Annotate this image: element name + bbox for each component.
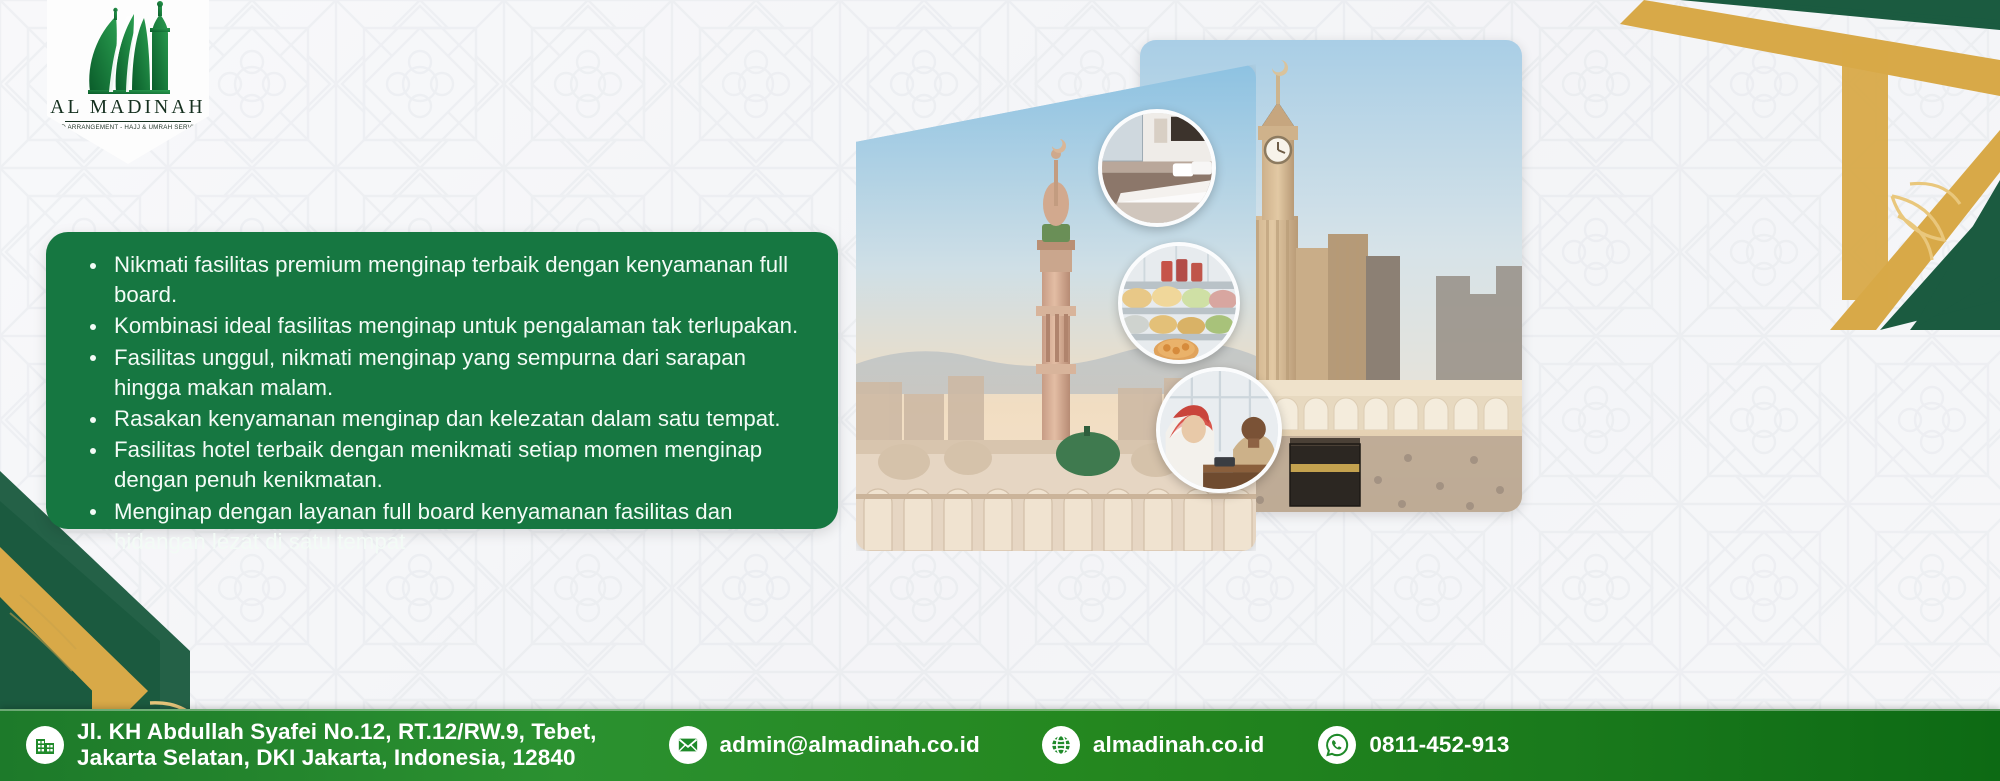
logo-tagline: LAND ARRANGEMENT - HAJJ & UMRAH SERVICES	[49, 124, 208, 131]
list-item: Fasilitas unggul, nikmati menginap yang …	[86, 343, 812, 403]
list-item: Kombinasi ideal fasilitas menginap untuk…	[86, 311, 812, 341]
footer-website[interactable]: almadinah.co.id	[1042, 726, 1265, 764]
list-item: Menginap dengan layanan full board kenya…	[86, 497, 812, 557]
hotel-service-photo	[1156, 367, 1282, 493]
full-board-food-photo	[1118, 242, 1240, 364]
footer-whatsapp[interactable]: 0811-452-913	[1318, 726, 1509, 764]
address-text: Jl. KH Abdullah Syafei No.12, RT.12/RW.9…	[77, 719, 597, 771]
building-icon	[26, 726, 64, 764]
list-item: Fasilitas hotel terbaik dengan menikmati…	[86, 435, 812, 495]
benefits-panel: Nikmati fasilitas premium menginap terba…	[46, 232, 838, 529]
envelope-icon	[669, 726, 707, 764]
promo-banner: AL MADINAH LAND ARRANGEMENT - HAJJ & UMR…	[0, 0, 2000, 781]
list-item: Nikmati fasilitas premium menginap terba…	[86, 250, 812, 310]
photo-collage	[840, 22, 1540, 542]
hotel-room-photo	[1098, 109, 1216, 227]
list-item: Rasakan kenyamanan menginap dan kelezata…	[86, 404, 812, 434]
footer-divider	[0, 709, 2000, 711]
footer-address: Jl. KH Abdullah Syafei No.12, RT.12/RW.9…	[26, 719, 597, 771]
mosque-silhouette-icon	[72, 0, 184, 96]
globe-icon	[1042, 726, 1080, 764]
address-line-2: Jakarta Selatan, DKI Jakarta, Indonesia,…	[77, 745, 576, 770]
website-text: almadinah.co.id	[1093, 732, 1265, 758]
address-line-1: Jl. KH Abdullah Syafei No.12, RT.12/RW.9…	[77, 719, 597, 744]
logo-wordmark: AL MADINAH	[50, 97, 205, 119]
footer-email[interactable]: admin@almadinah.co.id	[669, 726, 980, 764]
logo-divider	[65, 121, 191, 122]
footer-contact-bar: Jl. KH Abdullah Syafei No.12, RT.12/RW.9…	[0, 709, 2000, 781]
whatsapp-text: 0811-452-913	[1369, 732, 1509, 758]
whatsapp-icon	[1318, 726, 1356, 764]
email-text: admin@almadinah.co.id	[720, 732, 980, 758]
benefits-list: Nikmati fasilitas premium menginap terba…	[86, 250, 812, 557]
